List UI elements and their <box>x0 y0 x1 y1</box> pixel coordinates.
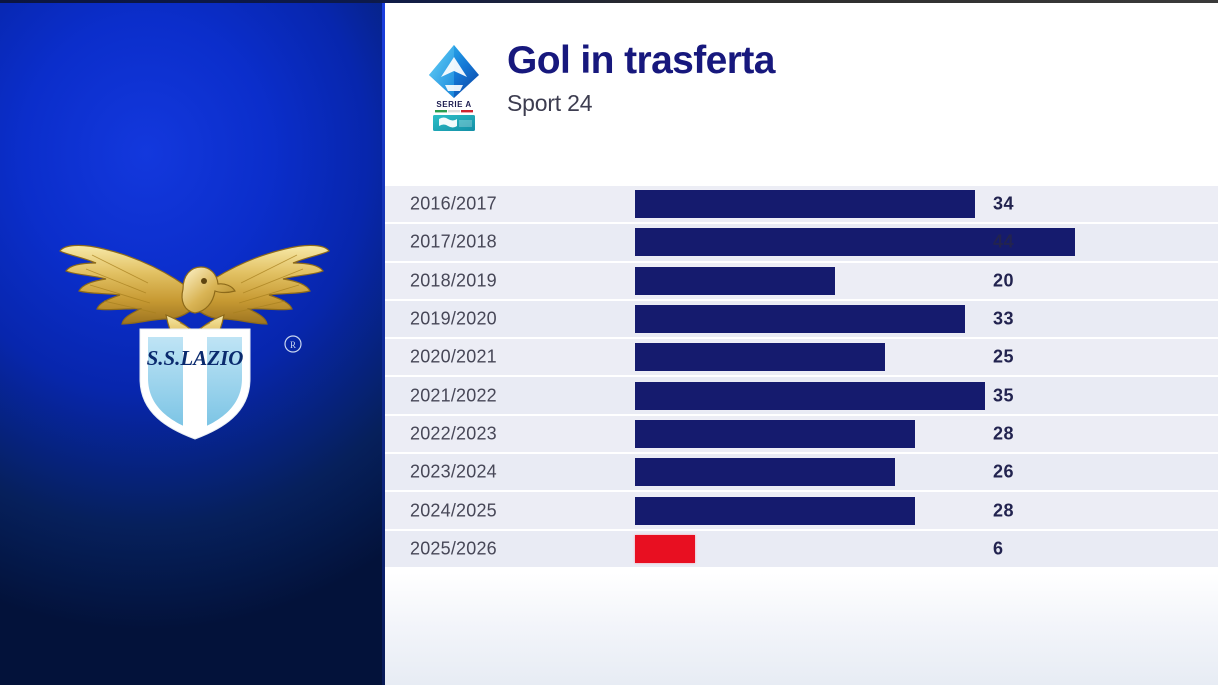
row-value-label: 28 <box>993 500 1014 521</box>
title-block: Gol in trasferta Sport 24 <box>507 41 775 117</box>
club-brand-panel: S.S.LAZIO R <box>0 3 385 685</box>
bar <box>635 458 895 486</box>
bar-track <box>635 420 1115 448</box>
row-value-label: 25 <box>993 347 1014 368</box>
bar-chart: 2016/2017342017/2018442018/2019202019/20… <box>385 186 1218 573</box>
bar-highlighted <box>635 535 695 563</box>
row-value-label: 26 <box>993 462 1014 483</box>
row-value-label: 6 <box>993 538 1004 559</box>
footer-band <box>385 573 1218 685</box>
bar <box>635 382 985 410</box>
chart-row: 2024/202528 <box>385 492 1218 530</box>
chart-row: 2021/202235 <box>385 377 1218 415</box>
bar-track <box>635 267 1115 295</box>
bar <box>635 497 915 525</box>
row-value-label: 33 <box>993 309 1014 330</box>
chart-header: SERIE A Gol in trasferta Sport 24 <box>385 3 1218 186</box>
bar-track <box>635 305 1115 333</box>
bar-track <box>635 535 1115 563</box>
row-season-label: 2020/2021 <box>410 347 497 368</box>
row-season-label: 2024/2025 <box>410 500 497 521</box>
serie-a-logo-text: SERIE A <box>436 100 471 109</box>
row-season-label: 2025/2026 <box>410 538 497 559</box>
chart-row: 2020/202125 <box>385 339 1218 377</box>
serie-a-logo-icon: SERIE A <box>423 41 485 131</box>
chart-row: 2022/202328 <box>385 416 1218 454</box>
page-subtitle: Sport 24 <box>507 90 775 117</box>
bar <box>635 343 885 371</box>
chart-row: 2023/202426 <box>385 454 1218 492</box>
bar-track <box>635 382 1115 410</box>
row-season-label: 2018/2019 <box>410 270 497 291</box>
row-value-label: 28 <box>993 423 1014 444</box>
bar-track <box>635 458 1115 486</box>
page-title: Gol in trasferta <box>507 41 775 82</box>
row-season-label: 2022/2023 <box>410 423 497 444</box>
bar <box>635 420 915 448</box>
broadcast-graphic-screen: S.S.LAZIO R <box>0 0 1218 685</box>
bar-track <box>635 190 1115 218</box>
bar <box>635 190 975 218</box>
chart-row: 2025/20266 <box>385 531 1218 569</box>
row-season-label: 2021/2022 <box>410 385 497 406</box>
row-value-label: 44 <box>993 232 1014 253</box>
bar-track <box>635 343 1115 371</box>
chart-row: 2016/201734 <box>385 186 1218 224</box>
club-name-text: S.S.LAZIO <box>147 346 244 370</box>
bar-track <box>635 228 1115 256</box>
row-season-label: 2019/2020 <box>410 309 497 330</box>
chart-row: 2018/201920 <box>385 263 1218 301</box>
club-shield: S.S.LAZIO <box>140 329 250 439</box>
row-value-label: 35 <box>993 385 1014 406</box>
row-season-label: 2023/2024 <box>410 462 497 483</box>
row-season-label: 2016/2017 <box>410 194 497 215</box>
bar <box>635 267 835 295</box>
bar <box>635 305 965 333</box>
registered-mark-icon: R <box>285 336 301 352</box>
row-value-label: 20 <box>993 270 1014 291</box>
svg-text:R: R <box>290 340 296 350</box>
chart-panel: SERIE A Gol in trasferta Sport 24 2016/2… <box>385 3 1218 685</box>
chart-row: 2019/202033 <box>385 301 1218 339</box>
bar-track <box>635 497 1115 525</box>
lazio-crest-logo: S.S.LAZIO R <box>52 231 337 441</box>
chart-row: 2017/201844 <box>385 224 1218 262</box>
row-season-label: 2017/2018 <box>410 232 497 253</box>
row-value-label: 34 <box>993 194 1014 215</box>
